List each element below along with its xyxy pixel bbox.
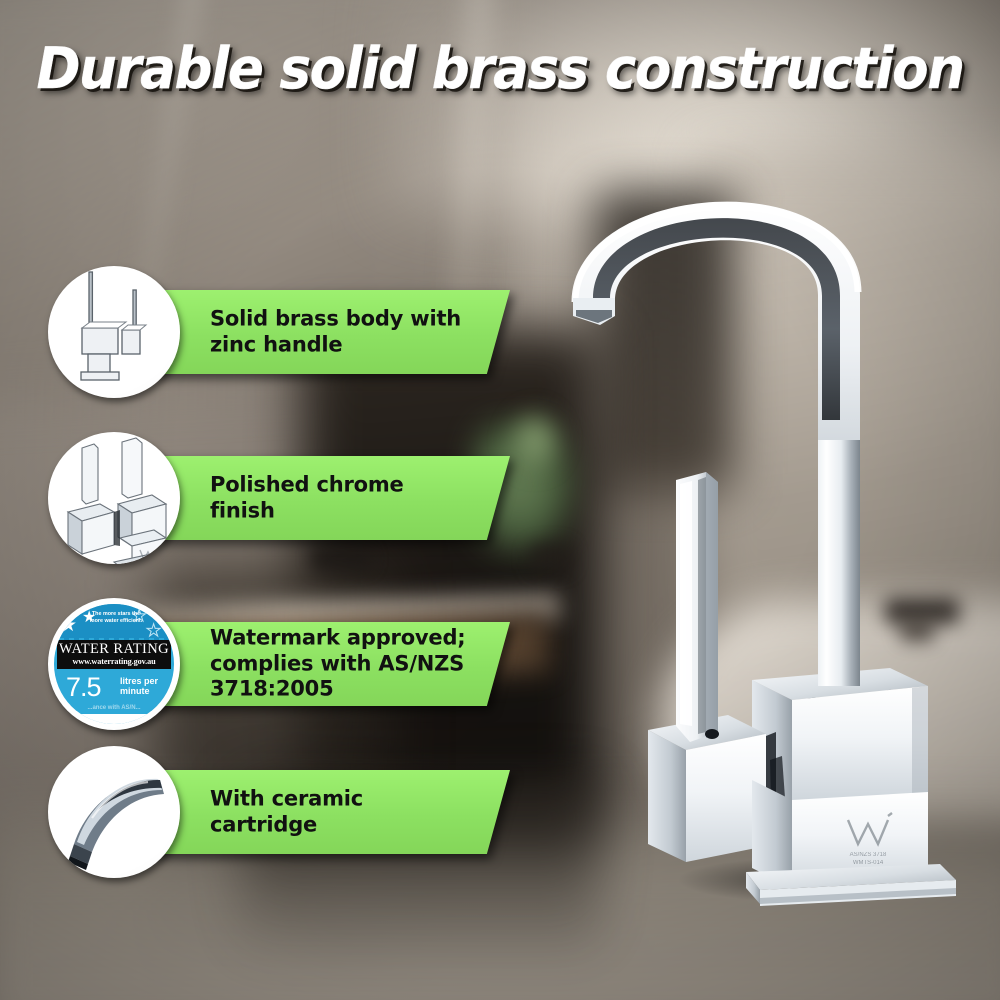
water-rating-bottom-band: [54, 714, 174, 724]
feature-item-solid-brass-body[interactable]: Solid brass body with zinc handle: [42, 266, 512, 398]
headline-title: Durable solid brass construction: [35, 36, 965, 102]
feature-banner: With ceramic cartridge: [154, 770, 510, 854]
feature-label: Watermark approved; complies with AS/NZS…: [210, 626, 474, 703]
feature-icon-circle: ★ ★ ★ ★ The more stars the more water ef…: [48, 598, 180, 730]
curved-spout-icon: [48, 746, 180, 878]
feature-icon-circle: [48, 746, 180, 878]
water-rating-footer: ...ance with AS/N...: [54, 705, 174, 711]
feature-item-polished-chrome-finish[interactable]: Polished chrome finish: [42, 432, 512, 564]
feature-banner: Solid brass body with zinc handle: [154, 290, 510, 374]
feature-icon-circle: [48, 266, 180, 398]
feature-label: Polished chrome finish: [210, 472, 474, 523]
water-rating-units-line2: minute: [120, 686, 158, 696]
water-rating-url: www.waterrating.gov.au: [57, 657, 171, 667]
faucet-base-closeup-icon: [48, 432, 180, 564]
feature-icon-circle: [48, 432, 180, 564]
feature-banner: Polished chrome finish: [154, 456, 510, 540]
feature-item-ceramic-cartridge[interactable]: With ceramic cartridge: [42, 746, 512, 878]
product-faucet-image: AS/NZS 3718 WMTS-014 Approved Mark: [560, 120, 980, 910]
feature-label: Solid brass body with zinc handle: [210, 306, 474, 357]
water-rating-units: litres per minute: [120, 676, 158, 697]
water-rating-disc: ★ ★ ★ ★ The more stars the more water ef…: [54, 604, 174, 724]
feature-label: With ceramic cartridge: [210, 786, 474, 837]
water-rating-value: 7.5: [66, 674, 101, 701]
water-rating-badge-icon: ★ ★ ★ ★ The more stars the more water ef…: [48, 598, 180, 730]
faucet-watermark-sub-line1: AS/NZS 3718: [850, 852, 887, 858]
faucet-line-drawing-icon: [48, 266, 180, 398]
water-rating-star-hollow-2: ★: [146, 622, 161, 639]
water-rating-units-line1: litres per: [120, 676, 158, 686]
faucet-watermark-sub-line2: WMTS-014: [853, 860, 884, 866]
water-rating-black-bar: WATER RATING www.waterrating.gov.au: [57, 640, 171, 669]
product-feature-graphic: Durable solid brass construction: [0, 0, 1000, 1000]
feature-item-watermark-approved[interactable]: Watermark approved; complies with AS/NZS…: [42, 598, 512, 730]
water-rating-note: The more stars the more water efficient.: [88, 611, 144, 625]
water-rating-star-filled-1: ★: [60, 616, 77, 635]
feature-banner: Watermark approved; complies with AS/NZS…: [154, 622, 510, 706]
water-rating-title: WATER RATING: [57, 642, 171, 657]
